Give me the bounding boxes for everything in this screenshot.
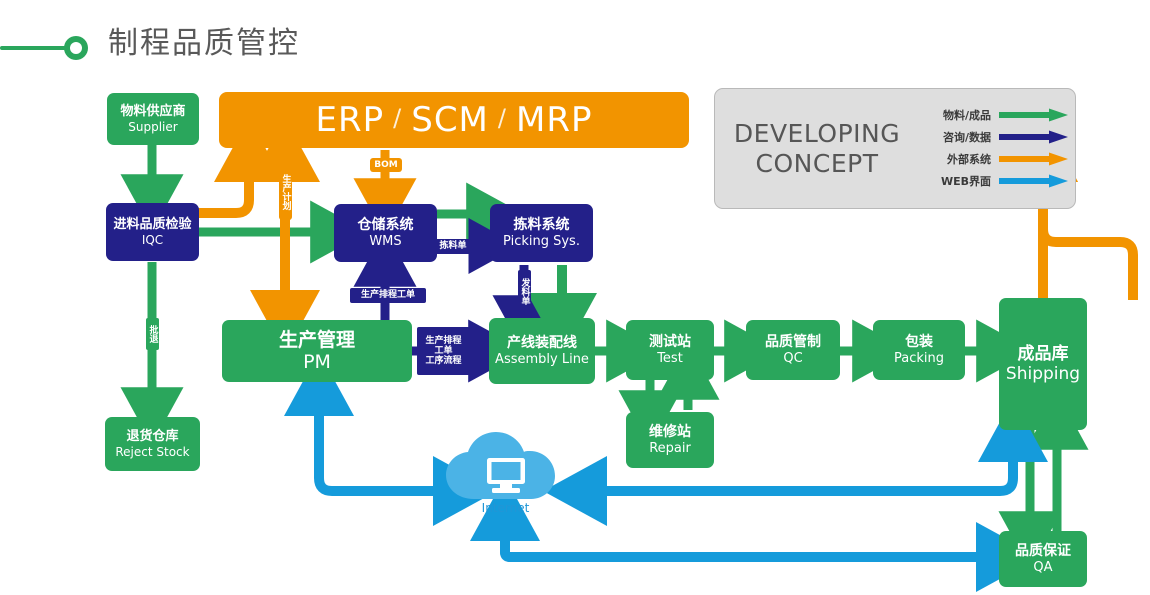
node-wms-en: WMS [369, 234, 401, 249]
node-iqc-en: IQC [142, 233, 163, 247]
node-pm-cn: 生产管理 [279, 329, 355, 351]
legend-panel: DEVELOPING CONCEPT 物料/成品 咨询/数据 外部系统 [714, 88, 1076, 209]
node-qa-en: QA [1033, 560, 1052, 575]
erp-separator-1: / [393, 104, 402, 132]
node-test[interactable]: 测试站 Test [626, 320, 714, 380]
node-qa-cn: 品质保证 [1015, 543, 1071, 560]
erp-label: ERP [316, 100, 385, 140]
node-reject-stock-cn: 退货仓库 [126, 429, 178, 444]
edge-label-bom: BOM [370, 158, 402, 172]
node-pm-en: PM [303, 351, 331, 373]
legend-label-information: 咨询/数据 [919, 129, 999, 145]
node-supplier-cn: 物料供应商 [120, 104, 185, 119]
legend-arrow-navy-icon [999, 130, 1069, 144]
edge-label-production-plan: 生产计划 [279, 163, 292, 220]
node-assembly-cn: 产线装配线 [507, 335, 577, 352]
legend-title-line-1: DEVELOPING [715, 119, 919, 149]
node-picking-sys[interactable]: 拣料系统 Picking Sys. [490, 204, 593, 262]
node-pm[interactable]: 生产管理 PM [222, 320, 412, 382]
node-supplier[interactable]: 物料供应商 Supplier [107, 93, 199, 145]
node-iqc-cn: 进料品质检验 [113, 217, 191, 232]
legend-row-external: 外部系统 [919, 149, 1069, 170]
node-shipping[interactable]: 成品库 Shipping [999, 298, 1087, 430]
erp-separator-2: / [498, 104, 507, 132]
node-qc-en: QC [783, 351, 802, 366]
legend-arrow-orange-icon [999, 152, 1069, 166]
scm-label: SCM [411, 100, 489, 140]
node-repair-en: Repair [649, 441, 691, 456]
node-picking-cn: 拣料系统 [514, 217, 570, 234]
node-repair[interactable]: 维修站 Repair [626, 412, 714, 468]
legend-row-material: 物料/成品 [919, 105, 1069, 126]
node-internet[interactable]: Internet [443, 431, 568, 519]
node-wms[interactable]: 仓储系统 WMS [334, 204, 437, 262]
mrp-label: MRP [516, 100, 592, 140]
internet-label: Internet [443, 501, 568, 515]
node-test-en: Test [657, 351, 683, 366]
legend-row-information: 咨询/数据 [919, 127, 1069, 148]
node-packing-en: Packing [894, 351, 944, 366]
node-iqc[interactable]: 进料品质检验 IQC [106, 203, 199, 261]
node-assembly-line[interactable]: 产线装配线 Assembly Line [489, 318, 595, 384]
edge-label-work-order: 生产排程工单 [350, 288, 426, 303]
cloud-icon [443, 431, 568, 505]
node-supplier-en: Supplier [128, 120, 177, 134]
node-wms-cn: 仓储系统 [358, 217, 414, 234]
work-order-process-line-1: 生产排程 [425, 336, 461, 346]
edge-label-picking-list: 拣料单 [434, 239, 472, 254]
work-order-process-line-2: 工单 [434, 346, 452, 356]
node-repair-cn: 维修站 [649, 424, 691, 441]
legend-arrow-green-icon [999, 108, 1069, 122]
node-qc-cn: 品质管制 [765, 334, 821, 351]
node-assembly-en: Assembly Line [495, 352, 589, 367]
node-packing[interactable]: 包装 Packing [873, 320, 965, 380]
node-erp-scm-mrp[interactable]: ERP / SCM / MRP [219, 92, 689, 148]
node-test-cn: 测试站 [649, 334, 691, 351]
diagram-canvas: 制程品质管控 [0, 0, 1150, 595]
edge-label-issue-list: 发料单 [518, 270, 531, 312]
legend-title: DEVELOPING CONCEPT [715, 119, 919, 178]
node-shipping-cn: 成品库 [1018, 344, 1069, 364]
node-qc[interactable]: 品质管制 QC [746, 320, 840, 380]
node-picking-en: Picking Sys. [503, 234, 580, 249]
node-shipping-en: Shipping [1006, 364, 1080, 384]
legend-label-external: 外部系统 [919, 151, 999, 167]
node-reject-stock[interactable]: 退货仓库 Reject Stock [105, 417, 200, 471]
node-reject-stock-en: Reject Stock [115, 445, 189, 459]
legend-label-web: WEB界面 [919, 173, 999, 189]
node-qa[interactable]: 品质保证 QA [999, 531, 1087, 587]
legend-title-line-2: CONCEPT [715, 149, 919, 179]
node-packing-cn: 包装 [905, 334, 933, 351]
legend-label-material: 物料/成品 [919, 107, 999, 123]
edge-label-batch-reject: 批退 [146, 318, 159, 350]
legend-arrow-blue-icon [999, 174, 1069, 188]
work-order-process-line-3: 工序流程 [425, 356, 461, 366]
legend-rows: 物料/成品 咨询/数据 外部系统 WEB界面 [919, 105, 1075, 193]
legend-row-web: WEB界面 [919, 171, 1069, 192]
edge-label-work-order-process: 生产排程 工单 工序流程 [417, 327, 470, 375]
